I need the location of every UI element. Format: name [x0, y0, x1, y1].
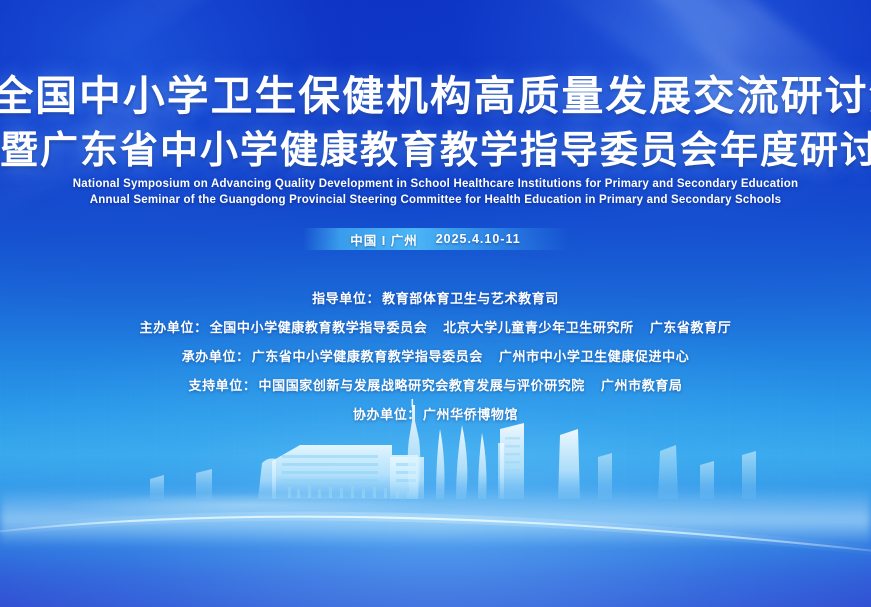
spire-tower-icon — [436, 429, 445, 499]
conference-poster: 全国中小学卫生保健机构高质量发展交流研讨活动 暨广东省中小学健康教育教学指导委员… — [0, 0, 871, 607]
location-date-banner: 中国 I 广州 2025.4.10-11 — [303, 228, 569, 250]
organizer-label: 承办单位： — [182, 346, 250, 365]
organizer-label: 协办单位： — [353, 404, 421, 423]
organizer-value: 中国国家创新与发展战略研究会教育发展与评价研究院 — [259, 375, 585, 394]
organizer-label: 指导单位： — [312, 288, 380, 307]
page-title: 全国中小学卫生保健机构高质量发展交流研讨活动 — [0, 76, 871, 117]
skyscraper-icon — [742, 451, 756, 499]
skyscraper-icon — [700, 461, 714, 499]
organizer-row: 主办单位： 全国中小学健康教育教学指导委员会 北京大学儿童青少年卫生研究所 广东… — [140, 317, 732, 336]
organizer-value: 教育部体育卫生与艺术教育司 — [382, 288, 559, 307]
organizer-row: 支持单位： 中国国家创新与发展战略研究会教育发展与评价研究院 广州市教育局 — [188, 375, 682, 394]
organizer-value: 北京大学儿童青少年卫生研究所 — [443, 317, 633, 336]
organizer-value: 全国中小学健康教育教学指导委员会 — [210, 317, 428, 336]
organizer-value: 广州市教育局 — [601, 375, 683, 394]
spire-tower-icon — [456, 425, 467, 499]
office-tower-icon — [498, 423, 524, 499]
english-subtitle-line-1: National Symposium on Advancing Quality … — [0, 178, 871, 190]
skyscraper-icon — [658, 445, 678, 499]
skyscraper-icon — [196, 469, 212, 499]
banner-date: 2025.4.10-11 — [436, 232, 521, 246]
page-subtitle: 暨广东省中小学健康教育教学指导委员会年度研讨活动 — [0, 131, 871, 169]
organizer-row: 指导单位： 教育部体育卫生与艺术教育司 — [312, 288, 559, 307]
banner-location: 中国 I 广州 — [350, 230, 417, 249]
organizer-label: 支持单位： — [188, 375, 256, 394]
skyscraper-icon — [558, 429, 580, 499]
organizer-row: 协办单位： 广州华侨博物馆 — [353, 404, 518, 423]
organizer-label: 主办单位： — [140, 317, 208, 336]
english-subtitle-line-2: Annual Seminar of the Guangdong Provinci… — [0, 194, 871, 206]
skyscraper-icon — [150, 475, 164, 499]
organizer-list: 指导单位： 教育部体育卫生与艺术教育司 主办单位： 全国中小学健康教育教学指导委… — [0, 288, 871, 423]
spire-tower-icon — [478, 433, 487, 499]
organizer-value: 广东省中小学健康教育教学指导委员会 — [252, 346, 483, 365]
organizer-value: 广东省教育厅 — [650, 317, 732, 336]
people-silhouettes-icon — [288, 486, 410, 498]
school-building-icon — [258, 445, 424, 499]
skyscraper-icon — [598, 453, 612, 499]
organizer-value: 广州市中小学卫生健康促进中心 — [499, 346, 689, 365]
organizer-value: 广州华侨博物馆 — [423, 404, 518, 423]
ground-haze — [0, 487, 871, 547]
organizer-row: 承办单位： 广东省中小学健康教育教学指导委员会 广州市中小学卫生健康促进中心 — [182, 346, 690, 365]
